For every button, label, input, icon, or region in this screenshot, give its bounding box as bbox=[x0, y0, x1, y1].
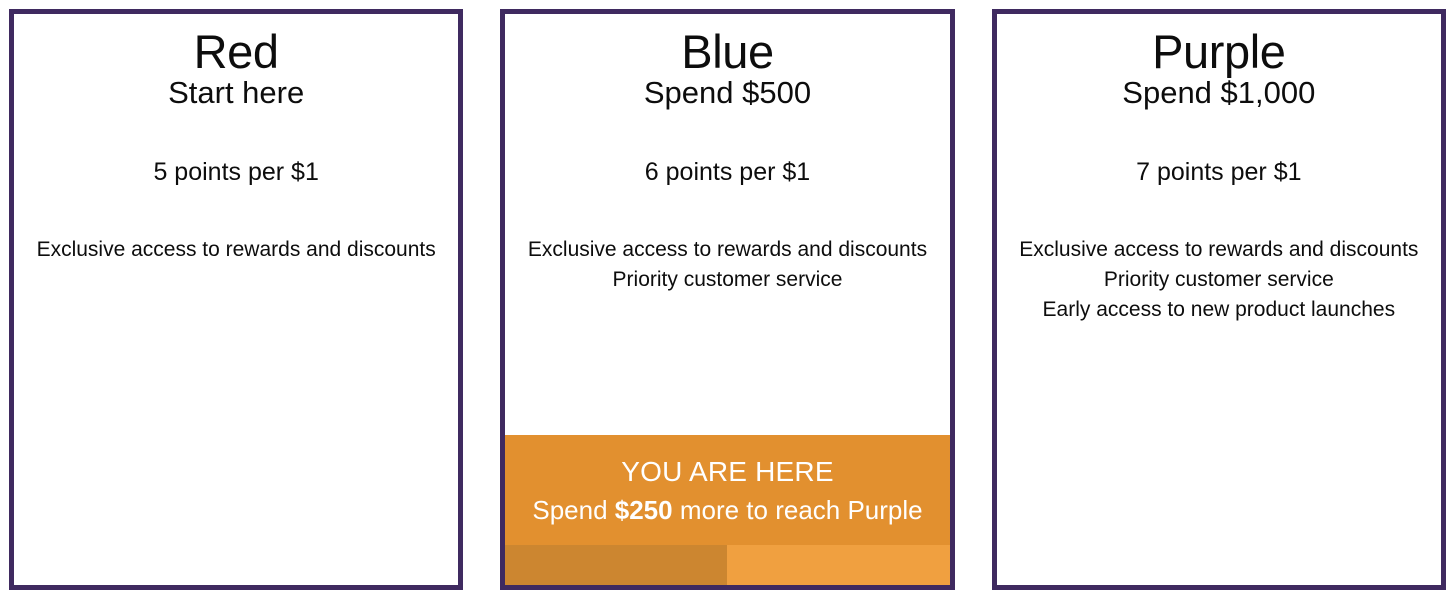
benefit-item: Priority customer service bbox=[1007, 265, 1431, 295]
tier-requirement: Spend $1,000 bbox=[1007, 75, 1431, 112]
tier-card-body: BlueSpend $5006 points per $1Exclusive a… bbox=[505, 14, 949, 295]
you-are-here-label: YOU ARE HERE bbox=[523, 455, 931, 489]
loyalty-tier-board: RedStart here5 points per $1Exclusive ac… bbox=[0, 0, 1456, 614]
tier-progress-bar bbox=[505, 545, 949, 585]
tier-points-rate: 7 points per $1 bbox=[1007, 157, 1431, 187]
tier-name: Red bbox=[24, 28, 448, 77]
tier-points-rate: 5 points per $1 bbox=[24, 157, 448, 187]
tier-name: Blue bbox=[515, 28, 939, 77]
tier-benefits-list: Exclusive access to rewards and discount… bbox=[515, 235, 939, 295]
next-tier-message-prefix: Spend bbox=[532, 495, 614, 525]
current-tier-banner: YOU ARE HERESpend $250 more to reach Pur… bbox=[505, 435, 949, 545]
tier-benefits-list: Exclusive access to rewards and discount… bbox=[24, 235, 448, 265]
tier-card-body: PurpleSpend $1,0007 points per $1Exclusi… bbox=[997, 14, 1441, 325]
tier-card-body: RedStart here5 points per $1Exclusive ac… bbox=[14, 14, 458, 265]
remaining-spend-amount: $250 bbox=[615, 495, 673, 525]
benefit-item: Exclusive access to rewards and discount… bbox=[1007, 235, 1431, 265]
next-tier-message: Spend $250 more to reach Purple bbox=[523, 493, 931, 527]
tier-card-red[interactable]: RedStart here5 points per $1Exclusive ac… bbox=[9, 9, 463, 590]
tier-benefits-list: Exclusive access to rewards and discount… bbox=[1007, 235, 1431, 324]
benefit-item: Exclusive access to rewards and discount… bbox=[24, 235, 448, 265]
tier-card-purple[interactable]: PurpleSpend $1,0007 points per $1Exclusi… bbox=[992, 9, 1446, 590]
card-spacer bbox=[505, 295, 949, 434]
tier-card-blue[interactable]: BlueSpend $5006 points per $1Exclusive a… bbox=[500, 9, 954, 590]
tier-name: Purple bbox=[1007, 28, 1431, 77]
benefit-item: Exclusive access to rewards and discount… bbox=[515, 235, 939, 265]
tier-requirement: Start here bbox=[24, 75, 448, 112]
benefit-item: Priority customer service bbox=[515, 265, 939, 295]
card-spacer bbox=[997, 325, 1441, 585]
tier-points-rate: 6 points per $1 bbox=[515, 157, 939, 187]
benefit-item: Early access to new product launches bbox=[1007, 295, 1431, 325]
next-tier-message-suffix: more to reach Purple bbox=[673, 495, 923, 525]
tier-progress-fill bbox=[505, 545, 727, 585]
card-spacer bbox=[14, 265, 458, 585]
tier-requirement: Spend $500 bbox=[515, 75, 939, 112]
